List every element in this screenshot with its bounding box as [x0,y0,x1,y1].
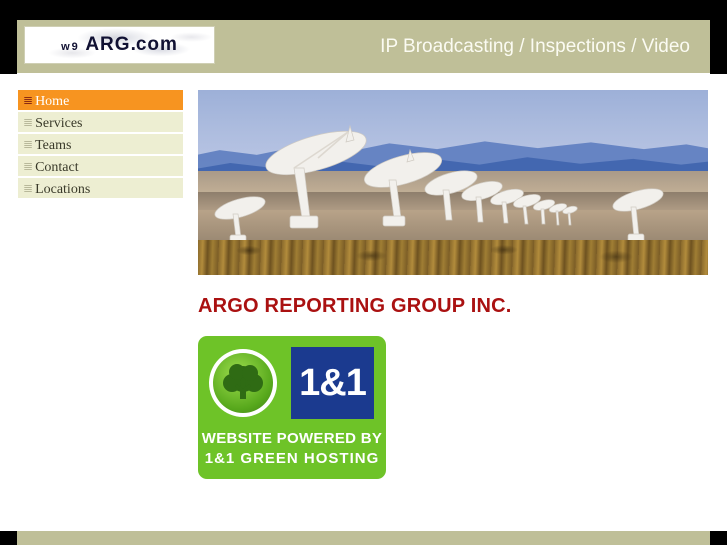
top-black-bar [0,0,727,20]
badge-brand-1and1: 1&1 [291,347,374,419]
main-content: ARGO REPORTING GROUP INC. [198,90,708,479]
site-footer [17,531,710,545]
sidebar-item-label: Teams [35,138,71,153]
badge-top-section: 1&1 [198,336,386,428]
sidebar-item-teams[interactable]: ≣Teams [18,134,183,154]
sidebar-item-services[interactable]: ≣Services [18,112,183,132]
sidebar-item-label: Services [35,116,82,131]
sidebar-item-contact[interactable]: ≣Contact [18,156,183,176]
sidebar-nav: ≣Home ≣Services ≣Teams ≣Contact ≣Locatio… [18,90,183,200]
footer-left-black-border [0,531,17,545]
logo-name: ARG [85,34,130,55]
satellite-dish-array-image [198,90,708,275]
header-tagline: IP Broadcasting / Inspections / Video [380,36,690,58]
green-hosting-badge[interactable]: 1&1 WEBSITE POWERED BY 1&1 GREEN HOSTING [198,336,386,479]
sidebar-item-home[interactable]: ≣Home [18,90,183,110]
list-bullet-icon: ≣ [23,178,33,198]
badge-line-1: WEBSITE POWERED BY [198,430,386,447]
hero-foreground-brush [198,240,708,275]
badge-line-2: 1&1 GREEN HOSTING [198,450,386,467]
list-bullet-icon: ≣ [23,112,33,132]
sidebar-item-label: Home [35,94,69,109]
list-bullet-icon: ≣ [23,156,33,176]
tree-glyph [213,353,273,413]
left-black-border [0,0,17,74]
green-tree-recycle-icon [209,349,277,417]
sidebar-item-label: Contact [35,160,79,175]
logo-prefix: w [61,41,72,53]
footer-right-black-border [710,531,727,545]
list-bullet-icon: ≣ [23,134,33,154]
sidebar-item-locations[interactable]: ≣Locations [18,178,183,198]
list-bullet-icon: ≣ [23,90,33,110]
sidebar-item-label: Locations [35,182,90,197]
site-header: w9 ARG.com IP Broadcasting / Inspections… [17,20,710,73]
logo-digit: 9 [72,41,80,53]
logo-tld: com [136,34,178,55]
site-logo[interactable]: w9 ARG.com [24,26,215,64]
right-black-border [710,0,727,74]
tree-emblem [213,353,273,413]
page-title: ARGO REPORTING GROUP INC. [198,295,708,318]
logo-text: w9 ARG.com [25,34,214,56]
